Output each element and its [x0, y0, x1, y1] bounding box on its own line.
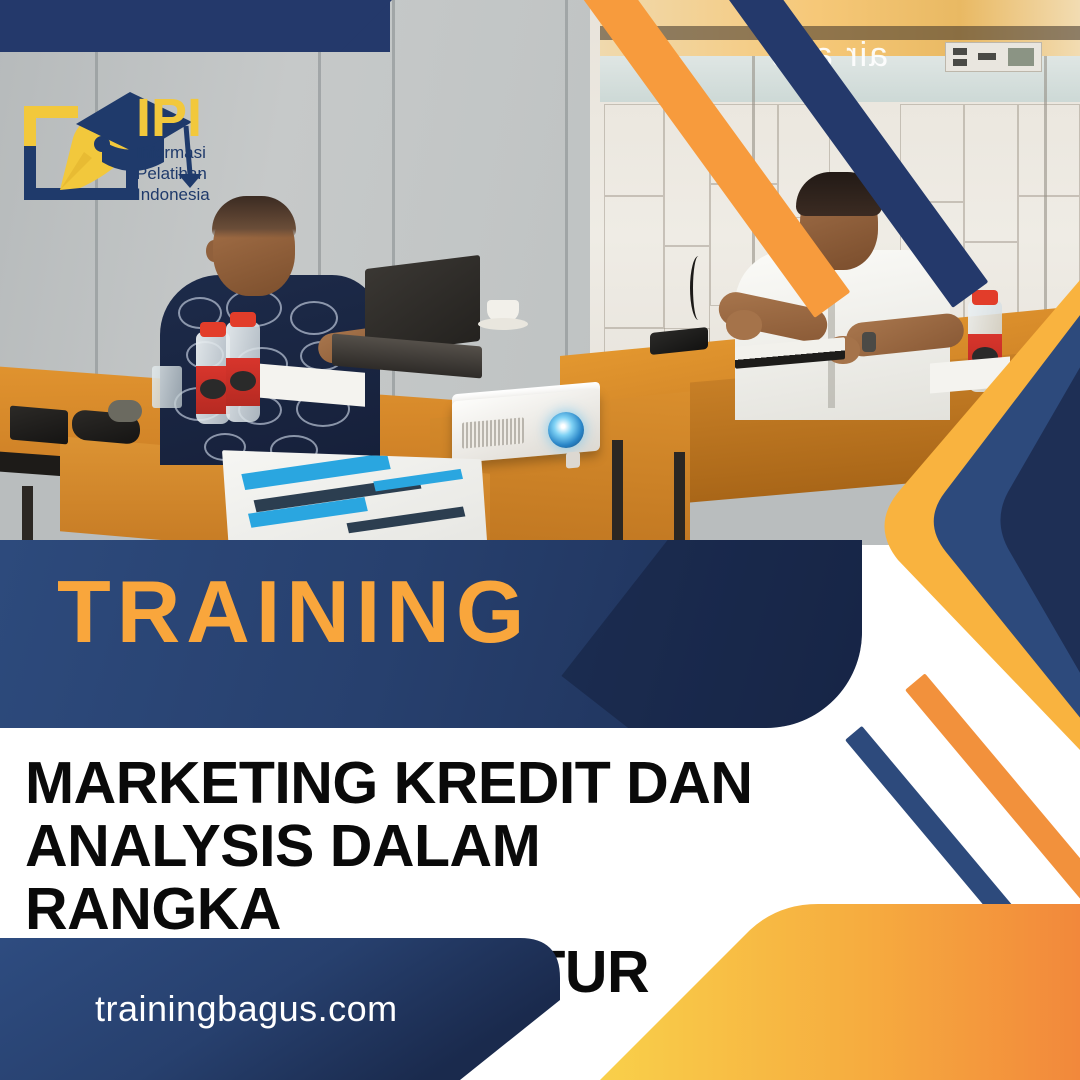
- saucer: [478, 318, 528, 330]
- bottle-cap: [200, 322, 226, 337]
- wall-tile: [964, 104, 1018, 242]
- cable: [690, 256, 707, 320]
- table-leg: [22, 486, 33, 545]
- projector-lens: [548, 412, 584, 448]
- bottle-label: [196, 366, 230, 414]
- table-leg: [674, 452, 685, 545]
- svg-text:IPI: IPI: [136, 88, 202, 148]
- training-poster: air aris: [0, 0, 1080, 1080]
- svg-text:Indonesia: Indonesia: [136, 185, 210, 204]
- wall-tile: [604, 196, 664, 328]
- bottle-label: [226, 358, 260, 406]
- brochure: [222, 450, 488, 545]
- wall-panel: [945, 42, 1042, 72]
- small-bag: [108, 400, 142, 422]
- top-navy-block: [0, 0, 390, 52]
- website-url: trainingbagus.com: [95, 988, 398, 1030]
- graduation-cap-and-pen-nib-icon: IPI Informasi Pelatihan Indonesia: [14, 78, 244, 213]
- svg-text:Pelatihan: Pelatihan: [136, 164, 207, 183]
- wallet: [10, 405, 68, 444]
- table-leg: [612, 440, 623, 545]
- wall-tile: [604, 104, 664, 196]
- projector-vent: [462, 417, 524, 448]
- hand: [726, 310, 762, 340]
- brand-logo: IPI Informasi Pelatihan Indonesia: [14, 78, 244, 213]
- svg-text:Informasi: Informasi: [136, 143, 206, 162]
- wall-tile: [1018, 104, 1080, 196]
- drinking-glass: [152, 366, 182, 408]
- headline-line-1: MARKETING KREDIT DAN: [25, 752, 795, 815]
- projector-foot: [566, 451, 580, 468]
- eyebrow-title: TRAINING: [57, 568, 530, 656]
- bottle-cap: [230, 312, 256, 327]
